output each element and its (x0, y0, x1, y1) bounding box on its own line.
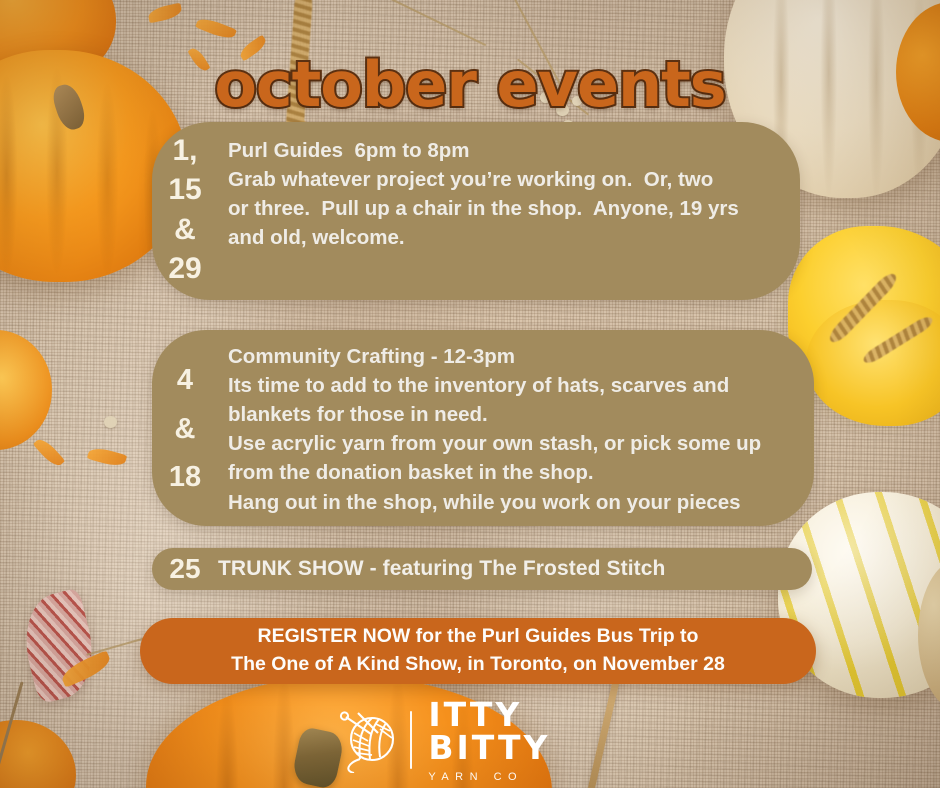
event-description-line: blankets for those in need. (228, 400, 798, 429)
event-date: 15 (168, 175, 201, 205)
event-dates-column: 1, 15 & 29 (152, 122, 218, 300)
trunk-show-label: TRUNK SHOW - featuring The Frosted Stitc… (218, 557, 665, 581)
event-card-trunk-show[interactable]: 25 TRUNK SHOW - featuring The Frosted St… (152, 548, 812, 590)
event-description-line: from the donation basket in the shop. (228, 458, 798, 487)
brand-logo[interactable]: ITTY BITTY YARN CO (338, 700, 606, 780)
october-events-poster: october events 1, 15 & 29 Purl Guides 6p… (0, 0, 940, 788)
event-dates-column: 4 & 18 (152, 330, 218, 526)
event-date: 25 (152, 555, 218, 583)
event-date-separator: & (175, 415, 196, 444)
event-date: 4 (177, 366, 193, 395)
page-title: october events (0, 48, 940, 121)
event-heading: Purl Guides 6pm to 8pm (228, 136, 784, 165)
logo-divider (410, 711, 412, 769)
register-line-2: The One of A Kind Show, in Toronto, on N… (231, 651, 725, 679)
event-description-line: Its time to add to the inventory of hats… (228, 371, 798, 400)
event-description-line: or three. Pull up a chair in the shop. A… (228, 194, 784, 223)
register-line-1: REGISTER NOW for the Purl Guides Bus Tri… (258, 623, 699, 651)
event-card-purl-guides[interactable]: 1, 15 & 29 Purl Guides 6pm to 8pm Grab w… (152, 122, 800, 300)
logo-brand-name: ITTY BITTY (428, 698, 606, 764)
event-date: 29 (168, 254, 201, 284)
event-date-separator: & (174, 215, 196, 245)
event-description-line: Use acrylic yarn from your own stash, or… (228, 429, 798, 458)
logo-brand-subtitle: YARN CO (428, 771, 606, 783)
event-body: Purl Guides 6pm to 8pm Grab whatever pro… (218, 122, 800, 300)
event-body: Community Crafting - 12-3pm Its time to … (218, 330, 814, 526)
event-description-line: Grab whatever project you’re working on.… (228, 165, 784, 194)
event-description-line: Hang out in the shop, while you work on … (228, 488, 798, 517)
register-now-banner[interactable]: REGISTER NOW for the Purl Guides Bus Tri… (140, 618, 816, 684)
yarn-ball-knitting-needles-icon (338, 707, 400, 773)
event-card-community-crafting[interactable]: 4 & 18 Community Crafting - 12-3pm Its t… (152, 330, 814, 526)
logo-wordmark: ITTY BITTY YARN CO (422, 698, 606, 783)
event-description-line: and old, welcome. (228, 223, 784, 252)
event-heading: Community Crafting - 12-3pm (228, 342, 798, 371)
event-date: 18 (169, 463, 201, 492)
event-date: 1, (172, 136, 197, 166)
